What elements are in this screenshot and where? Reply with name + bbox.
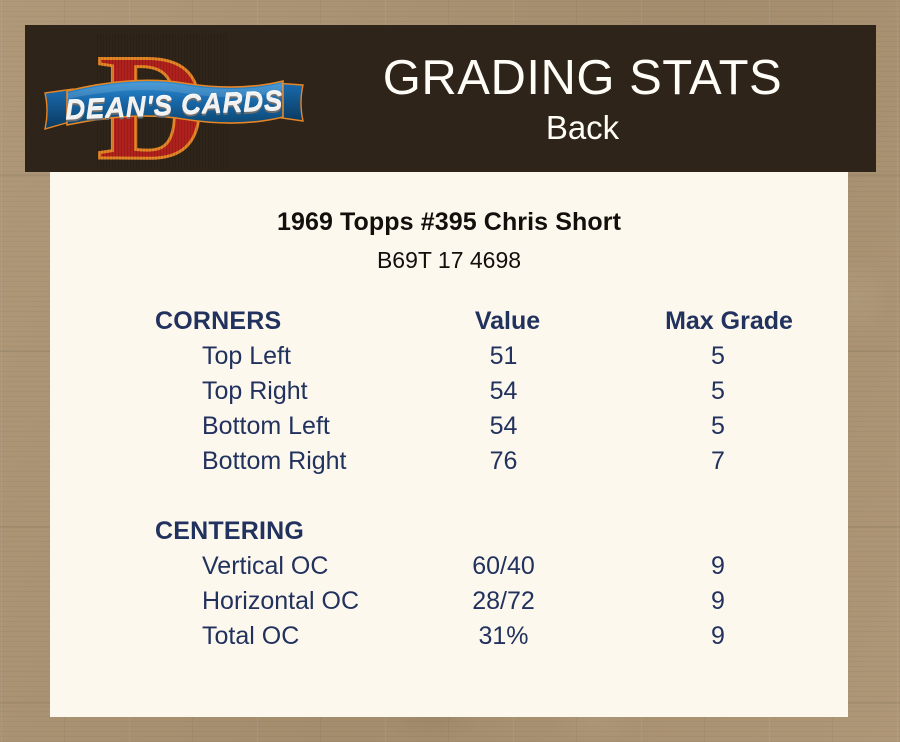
- row-label-vertical-oc: Vertical OC: [50, 549, 405, 584]
- row-value-top-right: 54: [405, 374, 610, 409]
- section-title-centering: CENTERING: [50, 514, 405, 549]
- table-row: Bottom Right 76 7: [50, 444, 848, 479]
- row-grade-vertical-oc: 9: [610, 549, 848, 584]
- row-grade-bottom-right: 7: [610, 444, 848, 479]
- table-section-row: CENTERING: [50, 514, 848, 549]
- column-header-value: Value: [405, 304, 610, 339]
- column-header-max-grade: Max Grade: [610, 304, 848, 339]
- row-value-bottom-left: 54: [405, 409, 610, 444]
- table-row: Vertical OC 60/40 9: [50, 549, 848, 584]
- section-title-corners: CORNERS: [50, 304, 405, 339]
- section-spacer: [50, 479, 848, 514]
- row-grade-top-right: 5: [610, 374, 848, 409]
- row-grade-total-oc: 9: [610, 619, 848, 654]
- header-bar: D: [25, 25, 876, 172]
- row-label-horizontal-oc: Horizontal OC: [50, 584, 405, 619]
- table-row: Top Right 54 5: [50, 374, 848, 409]
- logo-banner-ribbon-icon: DEAN'S CARDS: [43, 77, 305, 135]
- deans-cards-logo[interactable]: D: [25, 25, 315, 172]
- card-serial-number: B69T 17 4698: [50, 237, 848, 274]
- table-row: Horizontal OC 28/72 9: [50, 584, 848, 619]
- grading-stats-table: CORNERS Value Max Grade Top Left 51 5 To…: [50, 304, 848, 654]
- table-row: Bottom Left 54 5: [50, 409, 848, 444]
- table-row: Total OC 31% 9: [50, 619, 848, 654]
- page-subtitle: Back: [315, 108, 850, 148]
- header-titles: GRADING STATS Back: [315, 50, 876, 148]
- grading-stats-page: D: [0, 0, 900, 742]
- row-grade-bottom-left: 5: [610, 409, 848, 444]
- row-value-horizontal-oc: 28/72: [405, 584, 610, 619]
- table-row: Top Left 51 5: [50, 339, 848, 374]
- row-label-bottom-right: Bottom Right: [50, 444, 405, 479]
- logo-banner-text: DEAN'S CARDS: [64, 85, 283, 126]
- row-label-top-left: Top Left: [50, 339, 405, 374]
- row-label-bottom-left: Bottom Left: [50, 409, 405, 444]
- row-value-vertical-oc: 60/40: [405, 549, 610, 584]
- page-title: GRADING STATS: [315, 50, 850, 106]
- row-grade-horizontal-oc: 9: [610, 584, 848, 619]
- row-label-total-oc: Total OC: [50, 619, 405, 654]
- row-value-top-left: 51: [405, 339, 610, 374]
- table-header-row: CORNERS Value Max Grade: [50, 304, 848, 339]
- row-value-total-oc: 31%: [405, 619, 610, 654]
- row-grade-top-left: 5: [610, 339, 848, 374]
- content-panel: 1969 Topps #395 Chris Short B69T 17 4698…: [50, 172, 848, 717]
- row-value-bottom-right: 76: [405, 444, 610, 479]
- row-label-top-right: Top Right: [50, 374, 405, 409]
